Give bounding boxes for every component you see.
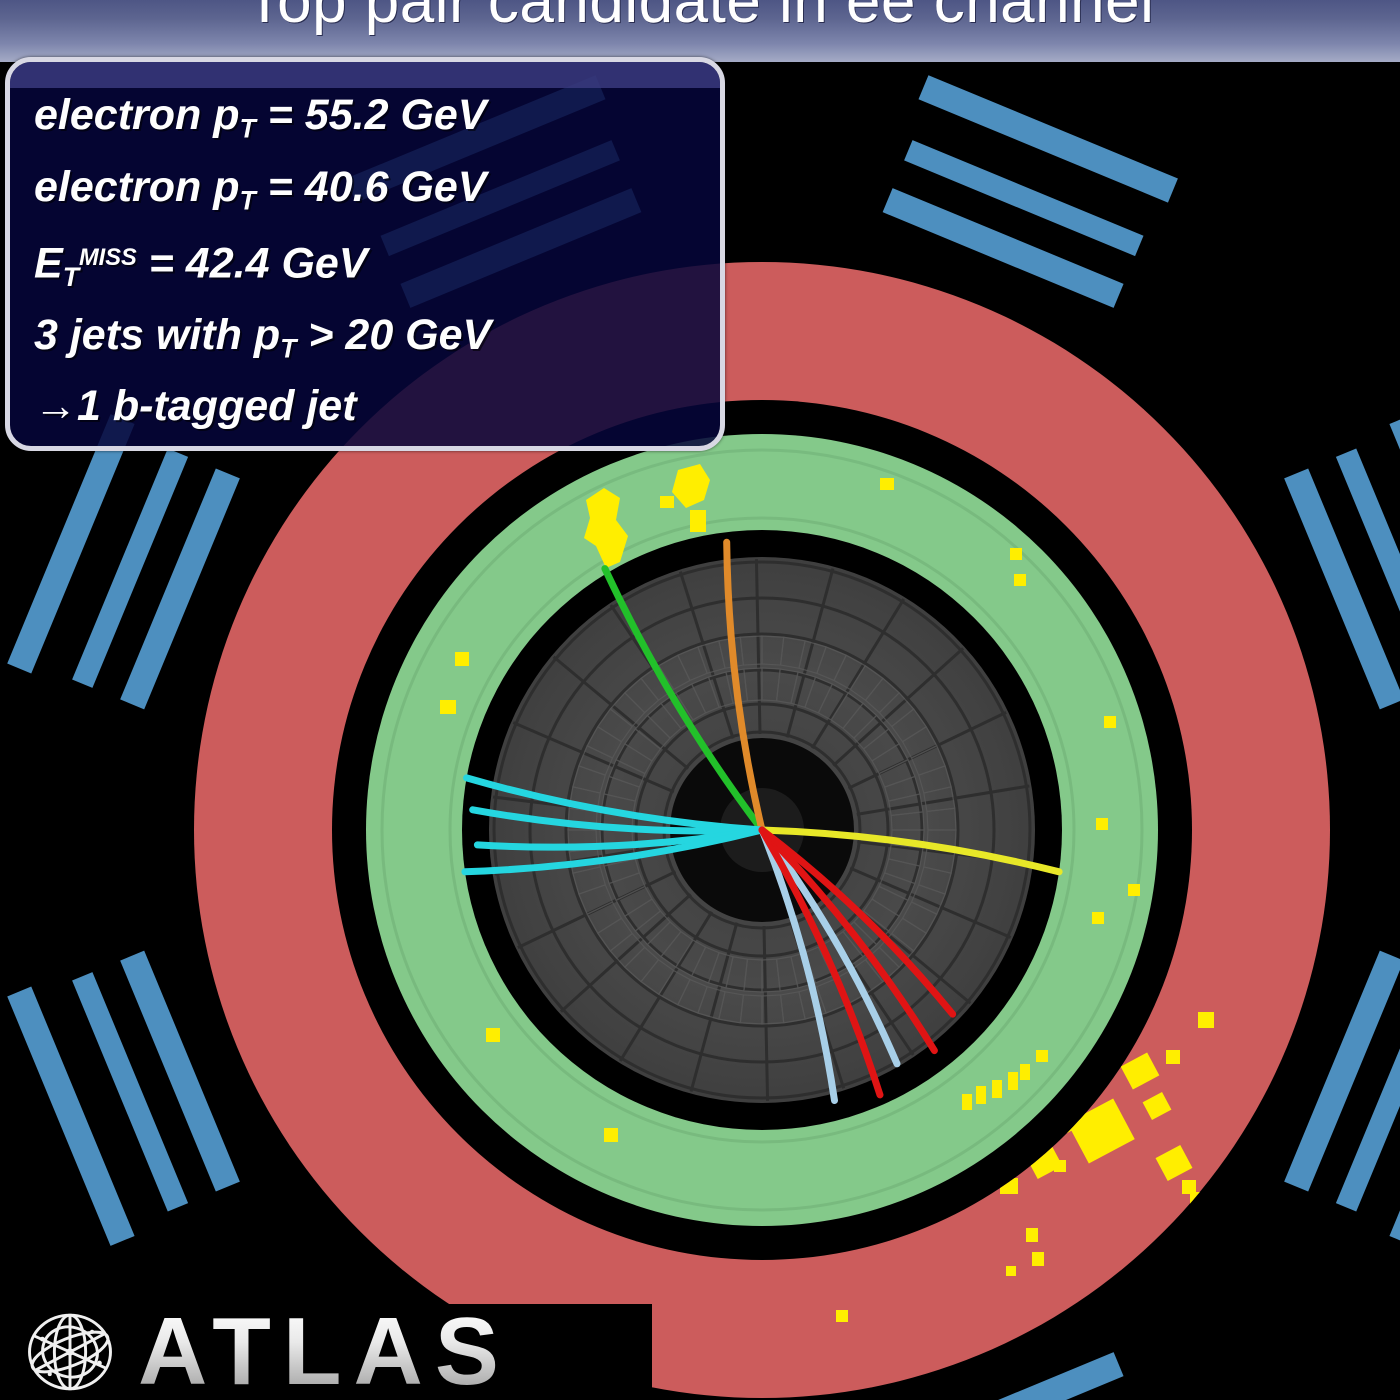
slide-header-banner: Top pair candidate in ee channel [0,0,1400,62]
event-display-canvas: Top pair candidate in ee channel electro… [0,0,1400,1400]
info-line-ht: HT =271 GeV [34,435,720,451]
info-line-missing-et: ETMISS = 42.4 GeV [34,229,720,306]
info-line-electron-pt-2: electron pT = 40.6 GeV [34,158,720,230]
event-info-list: electron pT = 55.2 GeVelectron pT = 40.6… [10,62,720,451]
atlas-logo: ATLAS [0,1304,652,1400]
info-line-jets: 3 jets with pT > 20 GeV [34,306,720,378]
page-title: Top pair candidate in ee channel [0,0,1400,37]
info-line-b-tagged: →1 b-tagged jet [34,377,720,435]
atlas-detector-sphere-icon [14,1306,126,1398]
event-info-panel: electron pT = 55.2 GeVelectron pT = 40.6… [5,57,725,451]
atlas-logo-text: ATLAS [138,1304,511,1400]
info-line-electron-pt-1: electron pT = 55.2 GeV [34,86,720,158]
